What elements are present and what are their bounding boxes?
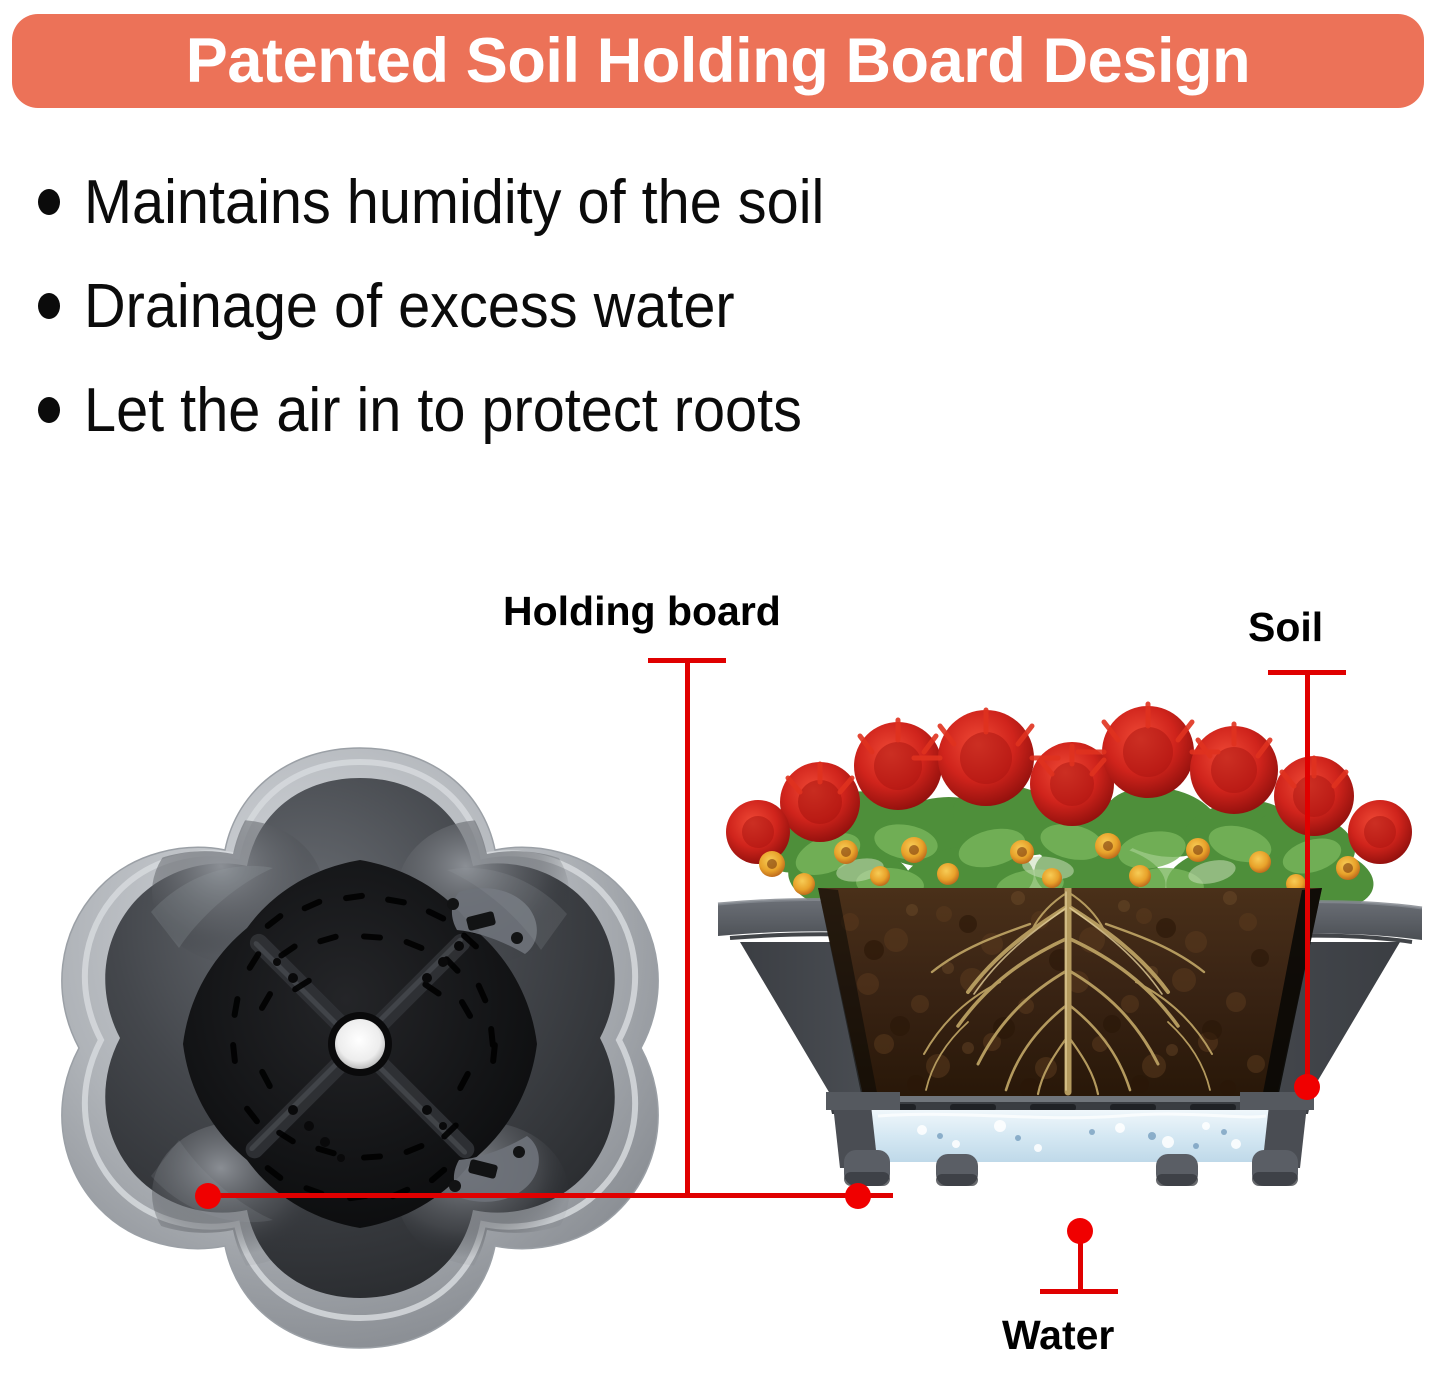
bullet-dot-icon (38, 397, 60, 423)
leader-dot-soil (1294, 1074, 1320, 1100)
callout-label-holding-board: Holding board (503, 588, 781, 635)
list-item: Drainage of excess water (38, 254, 1138, 358)
feature-text: Maintains humidity of the soil (84, 167, 824, 238)
soil-mass (818, 888, 1322, 1100)
clover-planter-graphic (55, 742, 665, 1360)
list-item: Maintains humidity of the soil (38, 150, 1138, 254)
leader-dot-holding-board-right (845, 1183, 871, 1209)
header-banner: Patented Soil Holding Board Design (12, 14, 1424, 108)
list-item: Let the air in to protect roots (38, 358, 1138, 462)
planter-cross-section-view (700, 692, 1435, 1292)
planter-cross-section-graphic (700, 692, 1435, 1292)
page-title: Patented Soil Holding Board Design (186, 25, 1250, 97)
leader-line-soil-vertical (1305, 670, 1310, 1088)
water-reservoir (870, 1110, 1270, 1162)
center-drain-hole-inner (335, 1019, 385, 1069)
feature-bullet-list: Maintains humidity of the soil Drainage … (38, 150, 1138, 462)
planter-bowl (105, 778, 615, 1298)
callout-label-water: Water (1002, 1312, 1114, 1359)
leader-line-water-tbar (1040, 1289, 1118, 1294)
feature-text: Drainage of excess water (84, 271, 735, 342)
leg-shadow (844, 1172, 1298, 1186)
bullet-dot-icon (38, 293, 60, 319)
bullet-dot-icon (38, 189, 60, 215)
leader-line-holding-board-horizontal (207, 1193, 893, 1198)
leader-line-holding-board-vertical (685, 658, 690, 1196)
clover-planter-top-view (55, 742, 665, 1360)
leader-dot-water (1067, 1218, 1093, 1244)
product-infographic: Patented Soil Holding Board Design Maint… (0, 0, 1435, 1375)
feature-text: Let the air in to protect roots (84, 375, 802, 446)
callout-label-soil: Soil (1248, 604, 1323, 651)
leader-dot-holding-board-left (195, 1183, 221, 1209)
